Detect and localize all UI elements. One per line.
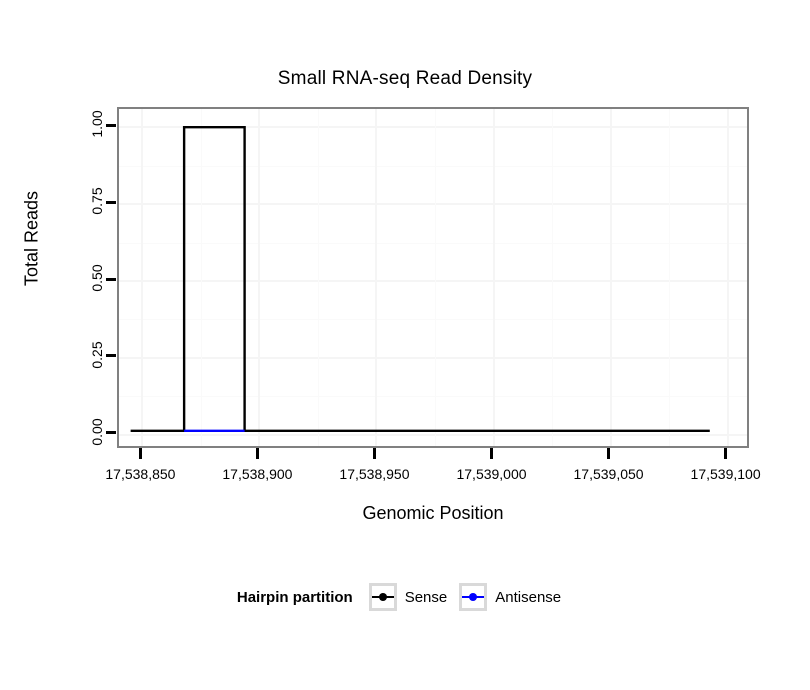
legend-entry-antisense[interactable]: Antisense [459, 583, 561, 611]
y-tick-label: 0.50 [89, 248, 105, 308]
y-tick-mark [106, 354, 116, 357]
legend-key-swatch [369, 583, 397, 611]
legend-key-swatch [459, 583, 487, 611]
y-tick-label: 0.00 [89, 402, 105, 462]
y-tick-mark [106, 278, 116, 281]
page-title: Small RNA-seq Read Density [0, 68, 810, 90]
x-tick-mark [256, 448, 259, 459]
legend-title: Hairpin partition [237, 589, 353, 606]
legend: Hairpin partition SenseAntisense [0, 583, 810, 611]
y-tick-mark [106, 201, 116, 204]
series-line-sense [131, 127, 710, 431]
x-tick-mark [490, 448, 493, 459]
y-tick-label: 0.75 [89, 171, 105, 231]
x-axis-title: Genomic Position [117, 503, 749, 524]
legend-key-point-icon [469, 593, 477, 601]
x-tick-label: 17,538,850 [105, 466, 175, 482]
legend-label: Sense [405, 589, 448, 606]
legend-key-point-icon [379, 593, 387, 601]
data-series-layer [119, 109, 747, 446]
x-tick-label: 17,538,950 [339, 466, 409, 482]
y-tick-mark [106, 124, 116, 127]
plot-panel [117, 107, 749, 448]
y-axis-title: Total Reads [22, 169, 43, 309]
legend-entries: SenseAntisense [369, 583, 573, 611]
x-tick-mark [724, 448, 727, 459]
y-tick-mark [106, 431, 116, 434]
legend-entry-sense[interactable]: Sense [369, 583, 448, 611]
legend-key-inner [372, 586, 394, 608]
x-tick-label: 17,539,000 [456, 466, 526, 482]
x-tick-label: 17,539,050 [574, 466, 644, 482]
y-tick-label: 1.00 [89, 94, 105, 154]
x-tick-mark [139, 448, 142, 459]
legend-key-inner [462, 586, 484, 608]
y-tick-label: 0.25 [89, 325, 105, 385]
x-tick-label: 17,538,900 [222, 466, 292, 482]
x-tick-label: 17,539,100 [691, 466, 761, 482]
x-tick-mark [373, 448, 376, 459]
x-tick-mark [607, 448, 610, 459]
legend-label: Antisense [495, 589, 561, 606]
